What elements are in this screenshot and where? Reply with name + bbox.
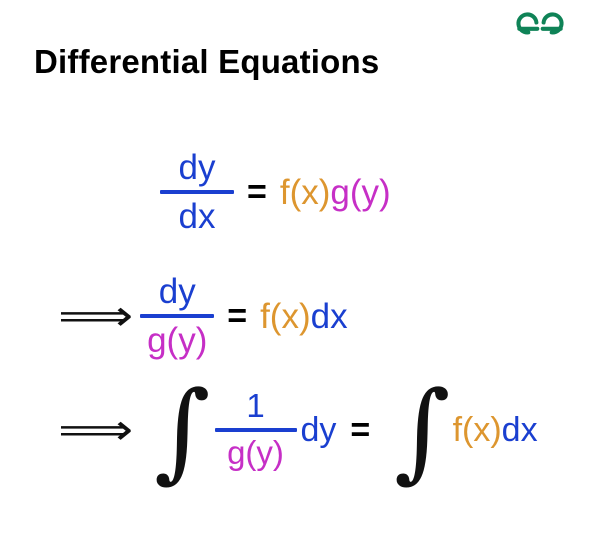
fraction-numerator: 1: [240, 388, 270, 425]
implies-arrow-icon: ⟹: [58, 295, 133, 337]
fraction-denominator: g(y): [221, 435, 290, 472]
fraction-dy-dx: dy dx: [160, 148, 234, 236]
equation-1: dy dx = f(x) g(y): [160, 148, 391, 236]
rhs-dx: dx: [311, 299, 348, 334]
differential-dy: dy: [301, 413, 337, 447]
fraction-denominator: dx: [173, 197, 222, 236]
fraction-dy-gy: dy g(y): [140, 272, 214, 360]
fraction-one-over-gy: 1 g(y): [215, 388, 297, 472]
rhs-gy: g(y): [330, 175, 390, 210]
implies-arrow-icon: ⟹: [58, 409, 133, 451]
integral-sign-right-icon: ∫: [394, 388, 450, 477]
fraction-bar: [215, 428, 297, 432]
rhs-fx: f(x): [260, 299, 311, 334]
geeksforgeeks-logo: [513, 10, 567, 44]
integral-sign-left-icon: ∫: [154, 388, 210, 477]
page-title: Differential Equations: [34, 42, 379, 82]
rhs-fx: f(x): [453, 413, 502, 447]
rhs-dx: dx: [502, 413, 538, 447]
fraction-denominator: g(y): [141, 321, 213, 360]
rhs-fx: f(x): [280, 175, 331, 210]
fraction-numerator: dy: [173, 148, 222, 187]
fraction-bar: [160, 190, 234, 194]
equals-sign: =: [227, 299, 247, 333]
fraction-numerator: dy: [153, 272, 202, 311]
equals-sign: =: [350, 413, 370, 447]
fraction-bar: [140, 314, 214, 318]
equation-3: ⟹ ∫ 1 g(y) dy = ∫ f(x) dx: [58, 386, 538, 475]
gfg-logo-icon: [513, 10, 567, 44]
equals-sign: =: [247, 175, 267, 209]
equation-2: ⟹ dy g(y) = f(x) dx: [58, 272, 348, 360]
